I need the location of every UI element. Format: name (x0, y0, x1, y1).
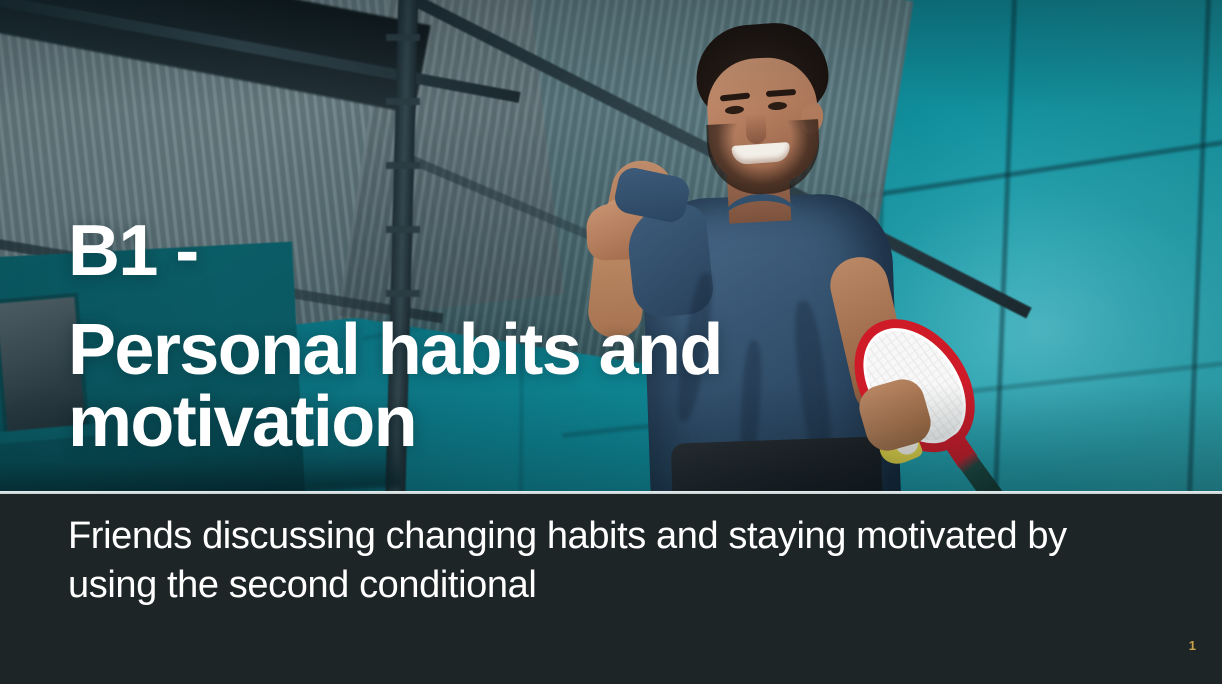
column-rung (386, 162, 420, 169)
subtitle: Friends discussing changing habits and s… (68, 512, 1128, 609)
slide: B1 - Personal habits and motivation Frie… (0, 0, 1222, 684)
nose (745, 113, 767, 144)
title-line-2: Personal habits and (68, 315, 848, 386)
column-rung (386, 98, 420, 105)
title-line-1: B1 - (68, 216, 848, 287)
column-rung (386, 34, 420, 41)
caption-band: Friends discussing changing habits and s… (0, 494, 1222, 684)
hero-image-region: B1 - Personal habits and motivation (0, 0, 1222, 491)
page-number: 1 (1189, 639, 1196, 652)
title-line-3: motivation (68, 387, 848, 458)
page-title: B1 - Personal habits and motivation (68, 216, 848, 458)
racket-grip (956, 451, 1004, 491)
